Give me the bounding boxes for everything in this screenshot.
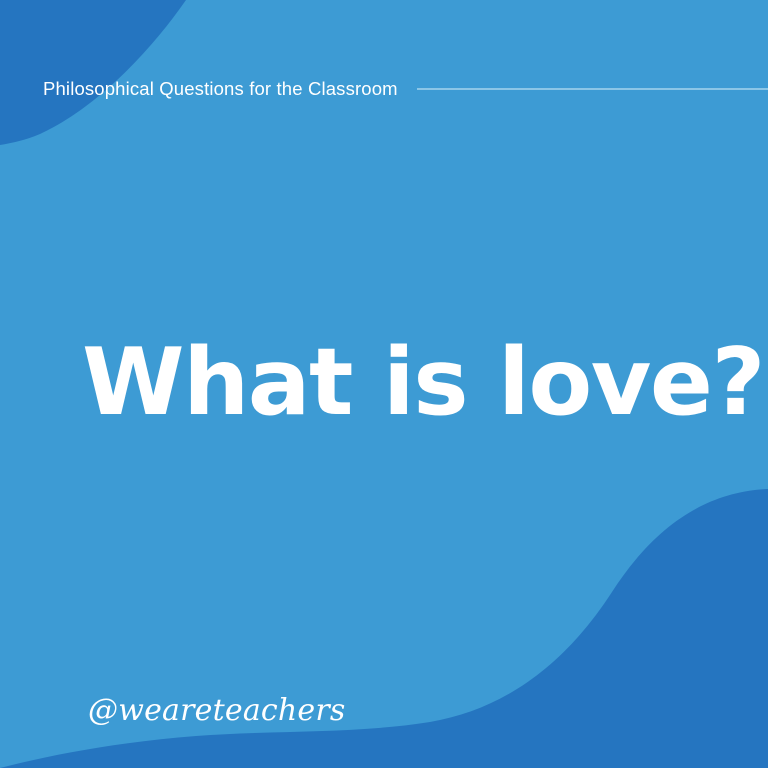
header: Philosophical Questions for the Classroo… <box>0 70 768 108</box>
header-divider-rule <box>417 88 768 90</box>
quote-card: Philosophical Questions for the Classroo… <box>0 0 768 768</box>
brand-handle: @weareteachers <box>88 693 346 729</box>
eyebrow-label: Philosophical Questions for the Classroo… <box>43 80 398 99</box>
headline-container: What is love? <box>82 318 702 448</box>
page-title: What is love? <box>82 334 764 432</box>
